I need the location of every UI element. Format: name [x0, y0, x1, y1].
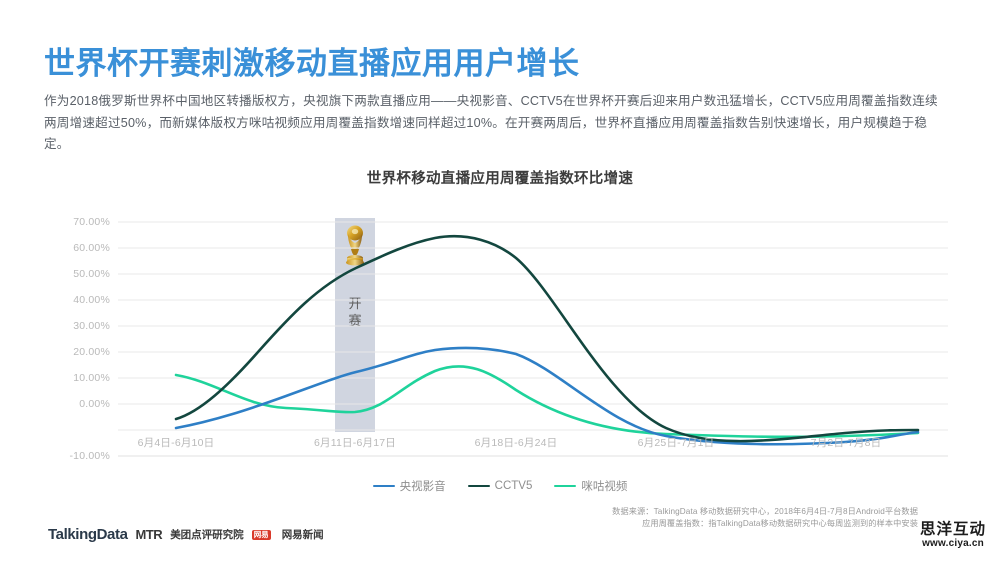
watermark: 思洋互动 www.ciya.cn [920, 521, 986, 549]
y-tick-label: 10.00% [48, 372, 110, 384]
summary-text: 作为2018俄罗斯世界杯中国地区转播版权方，央视旗下两款直播应用——央视影音、C… [44, 91, 949, 156]
legend-item-cctv-yingyin[interactable]: 央视影音 [373, 478, 446, 494]
legend-item-cctv5[interactable]: CCTV5 [468, 480, 533, 492]
summary-paragraph: 作为2018俄罗斯世界杯中国地区转播版权方，央视旗下两款直播应用——央视影音、C… [44, 91, 949, 156]
mtr-logo: MTR [136, 527, 163, 542]
x-tick-label: 7月2日-7月8日 [776, 435, 916, 450]
series-line-cctv5 [176, 236, 918, 441]
watermark-url: www.ciya.cn [920, 538, 986, 549]
y-tick-label: 0.00% [48, 398, 110, 410]
source-line-1: 数据来源：TalkingData 移动数据研究中心，2018年6月4日-7月8日… [612, 506, 918, 518]
talkingdata-logo: TalkingData [48, 526, 128, 543]
legend-swatch-icon [373, 485, 395, 488]
watermark-name: 思洋互动 [920, 521, 986, 538]
series-line-migu [176, 366, 918, 436]
x-tick-label: 6月25日-7月1日 [606, 435, 746, 450]
line-chart: 开赛 70.00% [0, 200, 1000, 500]
meituan-research-logo: 美团点评研究院 [170, 527, 244, 542]
x-tick-label: 6月11日-6月17日 [285, 435, 425, 450]
legend-label: 央视影音 [400, 478, 446, 494]
legend-label: CCTV5 [495, 480, 533, 492]
y-tick-label: 50.00% [48, 268, 110, 280]
y-tick-label: 60.00% [48, 242, 110, 254]
source-line-2: 应用周覆盖指数：指TalkingData移动数据研究中心每周监测到的样本中安装 [612, 518, 918, 530]
footer-logos: TalkingData MTR 美团点评研究院 网易 网易新闻 [48, 526, 324, 543]
slide-root: 世界杯开赛刺激移动直播应用用户增长 作为2018俄罗斯世界杯中国地区转播版权方，… [0, 0, 1000, 563]
y-tick-label: 30.00% [48, 320, 110, 332]
legend-item-migu[interactable]: 咪咕视频 [554, 478, 627, 494]
chart-legend: 央视影音 CCTV5 咪咕视频 [0, 478, 1000, 494]
page-title: 世界杯开赛刺激移动直播应用用户增长 [44, 38, 580, 83]
netease-news-logo: 网易新闻 [282, 527, 324, 542]
chart-title: 世界杯移动直播应用周覆盖指数环比增速 [0, 167, 1000, 188]
x-tick-label: 6月4日-6月10日 [106, 435, 246, 450]
y-tick-label: 20.00% [48, 346, 110, 358]
legend-swatch-icon [468, 485, 490, 488]
legend-label: 咪咕视频 [581, 478, 627, 494]
y-tick-label: 40.00% [48, 294, 110, 306]
chart-plot [0, 200, 1000, 470]
netease-badge-icon: 网易 [252, 530, 271, 540]
y-tick-label: 70.00% [48, 216, 110, 228]
y-tick-label: -10.00% [48, 450, 110, 462]
legend-swatch-icon [554, 485, 576, 488]
source-notes: 数据来源：TalkingData 移动数据研究中心，2018年6月4日-7月8日… [612, 506, 918, 530]
x-tick-label: 6月18日-6月24日 [446, 435, 586, 450]
